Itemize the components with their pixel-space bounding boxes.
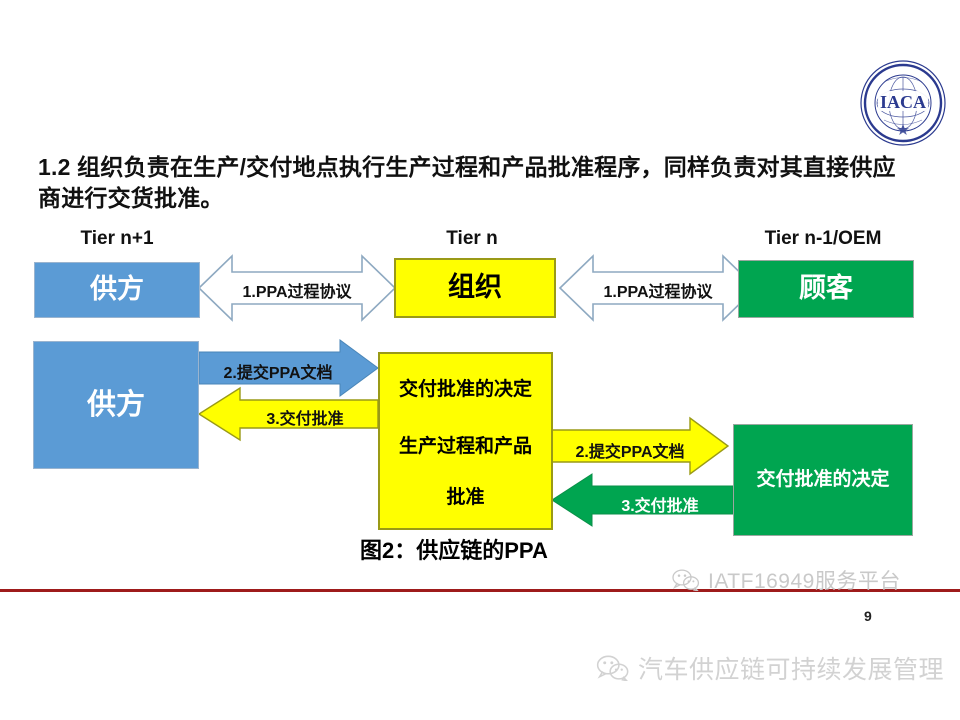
wechat-icon [596,655,630,681]
slide-heading: 1.2 组织负责在生产/交付地点执行生产过程和产品批准程序，同样负责对其直接供应… [38,152,898,214]
arrow-ppa-agreement-left-label: 1.PPA过程协议 [222,278,372,302]
watermark-top-text: IATF16949服务平台 [708,565,901,595]
bottom-supplier-box[interactable]: 供方 [33,341,199,469]
watermark-bottom-text: 汽车供应链可持续发展管理 [638,650,944,686]
wechat-icon [672,569,700,591]
tier-label-n: Tier n [389,228,555,250]
top-supplier-box[interactable]: 供方 [34,262,200,318]
iaca-logo-text: IACA [880,92,926,112]
bottom-supplier-box-label: 供方 [87,387,145,423]
slide-canvas: IACA 1.2 组织负责在生产/交付地点执行生产过程和产品批准程序，同样负责对… [0,0,960,720]
organization-box-label: 组织 [448,271,502,305]
arrow-delivery-approval-left-label: 3.交付批准 [240,405,370,429]
arrow-submit-ppa-left-label: 2.提交PPA文档 [208,359,348,383]
iaca-logo: IACA [858,58,948,148]
arrow-ppa-agreement-right-label: 1.PPA过程协议 [583,278,733,302]
center-approval-box-line3: 批准 [446,486,484,510]
center-approval-box-line1: 交付批准的决定 [399,378,532,402]
watermark-top: IATF16949服务平台 [672,565,901,595]
top-supplier-box-label: 供方 [90,273,144,307]
figure-caption: 图2：供应链的PPA [360,533,548,565]
bottom-customer-box[interactable]: 交付批准的决定 [733,424,913,536]
bottom-customer-box-label: 交付批准的决定 [756,468,889,492]
arrow-submit-ppa-right-label: 2.提交PPA文档 [560,438,700,462]
tier-label-n-plus-1: Tier n+1 [34,228,200,250]
center-approval-box-line2: 生产过程和产品 [399,435,532,459]
tier-label-n-minus-1-oem: Tier n-1/OEM [730,228,916,250]
top-customer-box-label: 顾客 [799,272,853,306]
page-number: 9 [864,608,872,624]
center-approval-box[interactable]: 交付批准的决定 生产过程和产品 批准 [378,352,553,530]
organization-box[interactable]: 组织 [394,258,556,318]
top-customer-box[interactable]: 顾客 [738,260,914,318]
watermark-bottom: 汽车供应链可持续发展管理 [596,650,944,686]
arrow-delivery-approval-right-label: 3.交付批准 [600,492,720,516]
